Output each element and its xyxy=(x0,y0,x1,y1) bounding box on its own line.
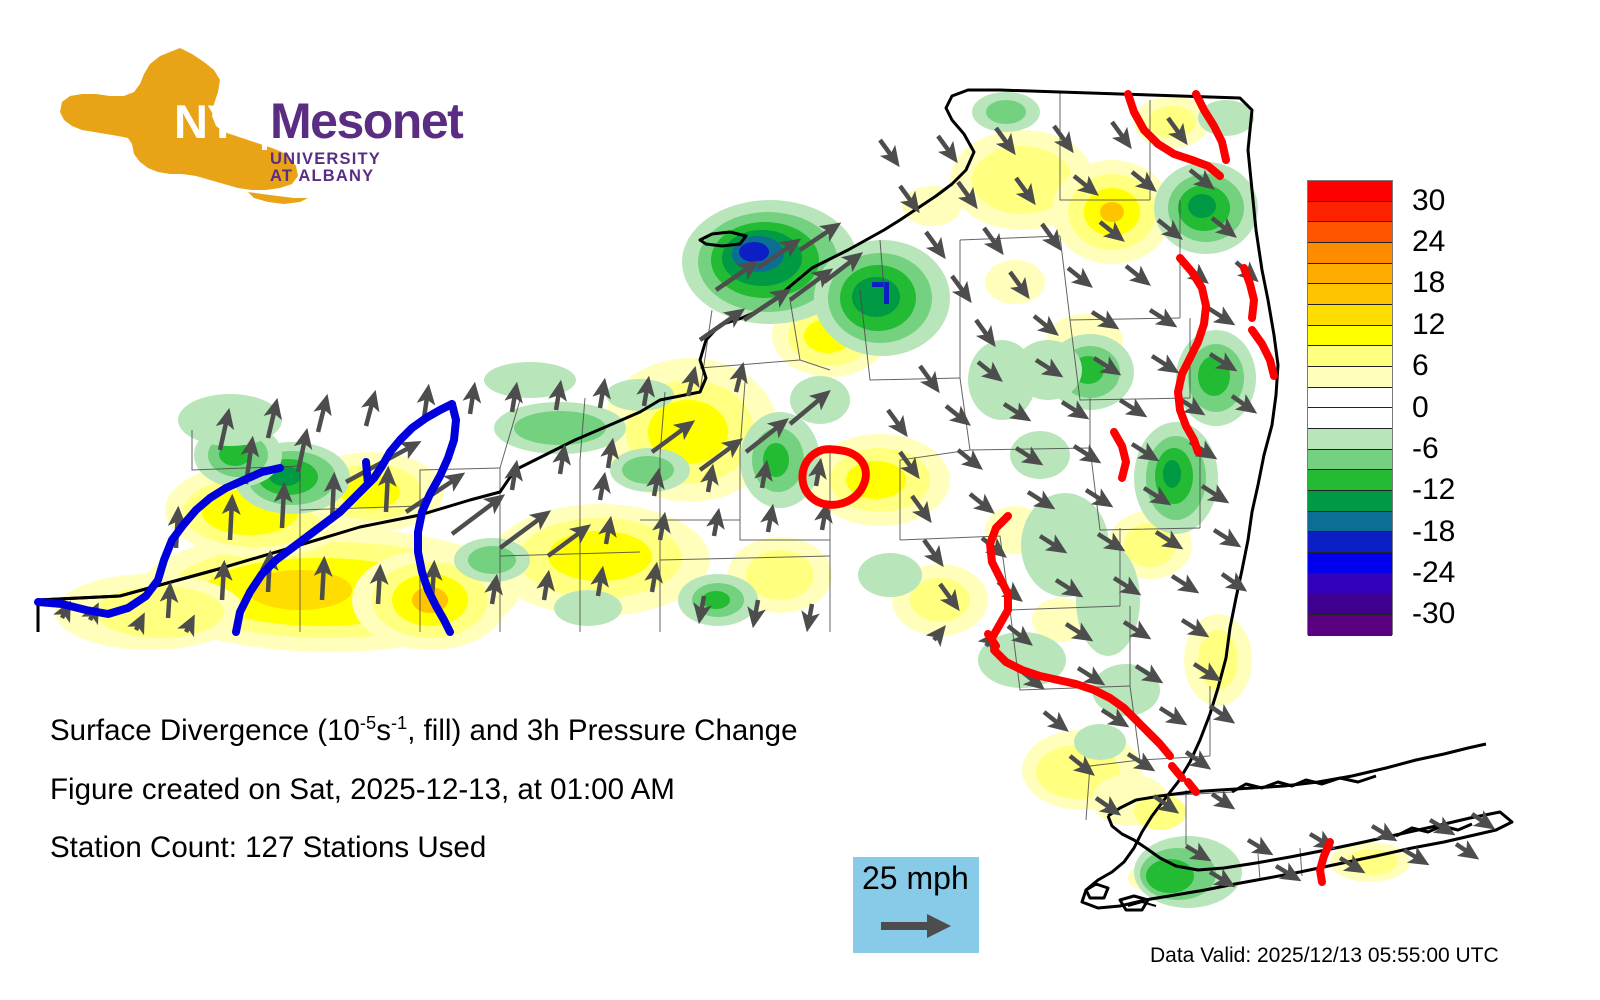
caption-title-mid: s xyxy=(376,714,391,747)
wind-legend-label: 25 mph xyxy=(862,862,969,894)
colorbar-band-7 xyxy=(1308,326,1392,347)
colorbar-tick-6: 6 xyxy=(1412,351,1482,381)
colorbar-band-0 xyxy=(1308,181,1392,202)
colorbar-band-11 xyxy=(1308,408,1392,429)
colorbar-band-15 xyxy=(1308,491,1392,512)
colorbar-band-1 xyxy=(1308,202,1392,223)
logo-mesonet-text: Mesonet xyxy=(270,96,462,146)
colorbar-band-14 xyxy=(1308,470,1392,491)
fill-negative-capital xyxy=(1134,422,1218,534)
caption-created-line: Figure created on Sat, 2025-12-13, at 01… xyxy=(50,775,950,805)
divergence-colorbar[interactable] xyxy=(1307,180,1393,635)
logo-subtitle: UNIVERSITY AT ALBANY xyxy=(270,151,402,184)
caption-exponent-2: -1 xyxy=(391,712,407,733)
data-valid-timestamp: Data Valid: 2025/12/13 05:55:00 UTC xyxy=(1150,945,1499,966)
logo-nys-text: NYS xyxy=(174,98,268,145)
caption-exponent-1: -5 xyxy=(360,712,376,733)
colorbar-tick-neg12: -12 xyxy=(1412,475,1482,505)
caption-title-post: , fill) and 3h Pressure Change xyxy=(407,714,797,747)
colorbar-band-17 xyxy=(1308,532,1392,553)
fill-negative-champlain xyxy=(1154,162,1258,254)
colorbar-tick-labels: 3024181260-6-12-18-24-30 xyxy=(1412,180,1532,635)
colorbar-band-9 xyxy=(1308,367,1392,388)
colorbar-band-6 xyxy=(1308,305,1392,326)
colorbar-band-18 xyxy=(1308,553,1392,574)
colorbar-band-12 xyxy=(1308,429,1392,450)
colorbar-tick-24: 24 xyxy=(1412,227,1482,257)
colorbar-band-8 xyxy=(1308,346,1392,367)
caption-station-count-line: Station Count: 127 Stations Used xyxy=(50,833,950,863)
colorbar-tick-12: 12 xyxy=(1412,310,1482,340)
wind-speed-legend: 25 mph xyxy=(853,857,979,953)
colorbar-tick-0: 0 xyxy=(1412,393,1482,423)
colorbar-tick-neg30: -30 xyxy=(1412,599,1482,629)
colorbar-band-4 xyxy=(1308,264,1392,285)
colorbar-band-10 xyxy=(1308,388,1392,409)
colorbar-band-16 xyxy=(1308,512,1392,533)
colorbar-band-19 xyxy=(1308,574,1392,595)
colorbar-band-3 xyxy=(1308,243,1392,264)
figure-canvas: NYS Mesonet UNIVERSITY AT ALBANY 3024181… xyxy=(0,0,1600,1000)
colorbar-band-21 xyxy=(1308,615,1392,636)
colorbar-tick-18: 18 xyxy=(1412,268,1482,298)
wind-reference-arrow-icon xyxy=(881,912,953,940)
colorbar-tick-neg6: -6 xyxy=(1412,434,1482,464)
colorbar-band-5 xyxy=(1308,284,1392,305)
caption-title-pre: Surface Divergence (10 xyxy=(50,714,360,747)
colorbar-band-13 xyxy=(1308,450,1392,471)
colorbar-band-2 xyxy=(1308,222,1392,243)
colorbar-band-20 xyxy=(1308,594,1392,615)
nys-mesonet-logo: NYS Mesonet UNIVERSITY AT ALBANY xyxy=(52,46,402,206)
colorbar-tick-neg18: -18 xyxy=(1412,517,1482,547)
logo-divider xyxy=(262,94,267,150)
colorbar-tick-30: 30 xyxy=(1412,186,1482,216)
caption-title-line: Surface Divergence (10-5s-1, fill) and 3… xyxy=(50,716,950,746)
colorbar-tick-neg24: -24 xyxy=(1412,558,1482,588)
figure-caption: Surface Divergence (10-5s-1, fill) and 3… xyxy=(50,716,950,892)
